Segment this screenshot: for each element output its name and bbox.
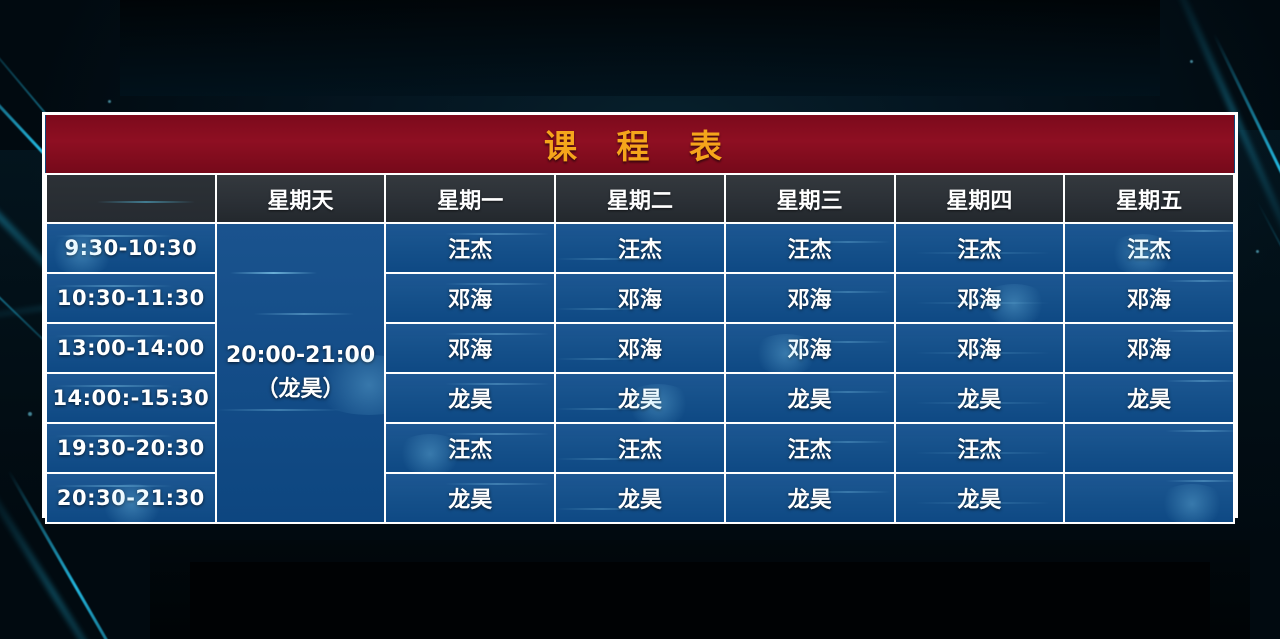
cell-time: 9:30-10:30 [46, 223, 216, 273]
cell-light-streak-icon [556, 458, 648, 460]
spark-icon [1256, 250, 1259, 253]
cell-light-streak-icon [445, 483, 549, 485]
cell-thursday: 邓海 [895, 273, 1065, 323]
cell-light-streak-icon [1166, 380, 1234, 382]
cell-thursday: 龙昊 [895, 373, 1065, 423]
cell-light-streak-icon [445, 283, 549, 285]
cell-thursday: 邓海 [895, 323, 1065, 373]
cell-light-streak-icon [445, 233, 549, 235]
cell-friday: 邓海 [1064, 273, 1234, 323]
background-floor-panel [150, 540, 1250, 639]
sunday-teacher: （龙昊） [217, 373, 385, 407]
cell-glow-icon [751, 334, 821, 373]
header-monday: 星期一 [385, 174, 555, 223]
cell-light-streak-icon [230, 272, 317, 274]
cell-glow-icon [979, 284, 1049, 323]
cell-wednesday: 龙昊 [725, 473, 895, 523]
cell-monday: 邓海 [385, 273, 555, 323]
cell-light-streak-icon [556, 258, 648, 260]
cell-glow-icon [47, 234, 117, 273]
cell-wednesday: 汪杰 [725, 223, 895, 273]
cell-light-streak-icon [217, 409, 341, 411]
cell-light-streak-icon [445, 433, 549, 435]
spark-icon [28, 412, 32, 416]
cell-light-streak-icon [445, 383, 549, 385]
cell-tuesday: 龙昊 [555, 473, 725, 523]
cell-friday [1064, 473, 1234, 523]
header-sunday: 星期天 [216, 174, 386, 223]
light-streak-icon [1256, 200, 1280, 431]
background-scene: 课 程 表 星期天 星期一 星期二 星期三 星期四 星期五 9:30-10:30… [0, 0, 1280, 639]
spark-icon [1190, 60, 1193, 63]
cell-light-streak-icon [556, 358, 648, 360]
cell-tuesday: 邓海 [555, 273, 725, 323]
background-floor-shadow [190, 562, 1210, 639]
cell-light-streak-icon [445, 333, 549, 335]
schedule-table: 课 程 表 星期天 星期一 星期二 星期三 星期四 星期五 9:30-10:30… [45, 115, 1235, 524]
cell-light-streak-icon [55, 435, 172, 437]
background-ceiling-panel [120, 0, 1160, 96]
cell-tuesday: 邓海 [555, 323, 725, 373]
cell-light-streak-icon [806, 491, 890, 493]
light-streak-icon [1085, 0, 1240, 3]
cell-light-streak-icon [916, 402, 1050, 404]
cell-monday: 龙昊 [385, 373, 555, 423]
cell-tuesday: 龙昊 [555, 373, 725, 423]
cell-glow-icon [1107, 234, 1177, 273]
spark-icon [108, 100, 111, 103]
cell-time: 10:30-11:30 [46, 273, 216, 323]
cell-glow-icon [395, 434, 465, 473]
cell-light-streak-icon [1166, 480, 1234, 482]
cell-wednesday: 龙昊 [725, 373, 895, 423]
cell-time: 13:00-14:00 [46, 323, 216, 373]
cell-light-streak-icon [55, 485, 172, 487]
cell-monday: 汪杰 [385, 223, 555, 273]
cell-light-streak-icon [55, 235, 172, 237]
cell-light-streak-icon [1166, 230, 1234, 232]
schedule-table-panel: 课 程 表 星期天 星期一 星期二 星期三 星期四 星期五 9:30-10:30… [42, 112, 1238, 518]
cell-light-streak-icon [806, 291, 890, 293]
cell-light-streak-icon [916, 452, 1050, 454]
cell-thursday: 汪杰 [895, 223, 1065, 273]
table-row: 9:30-10:30 20:00-21:00 （龙昊） 汪杰 汪杰 汪杰 汪杰 … [46, 223, 1234, 273]
schedule-title-cell: 课 程 表 [46, 115, 1234, 174]
cell-light-streak-icon [916, 302, 1050, 304]
header-friday: 星期五 [1064, 174, 1234, 223]
header-tuesday: 星期二 [555, 174, 725, 223]
cell-time: 14:00:-15:30 [46, 373, 216, 423]
cell-time: 19:30-20:30 [46, 423, 216, 473]
cell-monday: 汪杰 [385, 423, 555, 473]
cell-light-streak-icon [916, 252, 1050, 254]
cell-monday: 邓海 [385, 323, 555, 373]
header-wednesday: 星期三 [725, 174, 895, 223]
cell-sunday-merged: 20:00-21:00 （龙昊） [216, 223, 386, 523]
cell-light-streak-icon [806, 391, 890, 393]
light-streak-icon [1158, 0, 1280, 12]
cell-glow-icon [623, 384, 693, 423]
cell-wednesday: 邓海 [725, 273, 895, 323]
cell-light-streak-icon [556, 508, 648, 510]
cell-time: 20:30-21:30 [46, 473, 216, 523]
page-title: 课 程 表 [544, 127, 736, 166]
cell-light-streak-icon [916, 352, 1050, 354]
cell-tuesday: 汪杰 [555, 423, 725, 473]
header-time-column [46, 174, 216, 223]
cell-light-streak-icon [55, 385, 172, 387]
cell-light-streak-icon [55, 285, 172, 287]
cell-wednesday: 邓海 [725, 323, 895, 373]
cell-friday: 汪杰 [1064, 223, 1234, 273]
sunday-time: 20:00-21:00 [217, 339, 385, 373]
cell-light-streak-icon [916, 502, 1050, 504]
cell-thursday: 汪杰 [895, 423, 1065, 473]
title-row: 课 程 表 [46, 115, 1234, 174]
header-row: 星期天 星期一 星期二 星期三 星期四 星期五 [46, 174, 1234, 223]
cell-light-streak-icon [55, 335, 172, 337]
cell-light-streak-icon [556, 408, 648, 410]
cell-light-streak-icon [806, 441, 890, 443]
cell-thursday: 龙昊 [895, 473, 1065, 523]
cell-friday [1064, 423, 1234, 473]
cell-light-streak-icon [1166, 430, 1234, 432]
cell-glow-icon [1157, 484, 1227, 523]
cell-light-streak-icon [254, 313, 355, 315]
cell-wednesday: 汪杰 [725, 423, 895, 473]
cell-light-streak-icon [1166, 330, 1234, 332]
cell-light-streak-icon [806, 341, 890, 343]
cell-light-streak-icon [556, 308, 648, 310]
cell-friday: 邓海 [1064, 323, 1234, 373]
cell-monday: 龙昊 [385, 473, 555, 523]
cell-light-streak-icon [1166, 280, 1234, 282]
cell-light-streak-icon [806, 241, 890, 243]
cell-glow-icon [97, 484, 167, 523]
cell-friday: 龙昊 [1064, 373, 1234, 423]
header-thursday: 星期四 [895, 174, 1065, 223]
cell-tuesday: 汪杰 [555, 223, 725, 273]
